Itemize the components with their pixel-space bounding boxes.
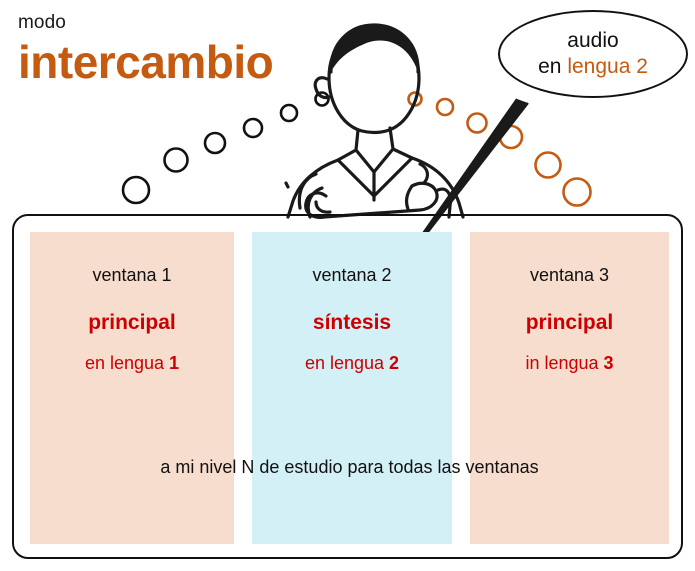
speech-bubble-prefix: en [538, 55, 567, 78]
window-language-number-3: 3 [604, 353, 614, 373]
window-column-2[interactable]: ventana 2 síntesis en lengua 2 [252, 232, 452, 544]
window-title-2: ventana 2 [252, 264, 452, 286]
person-icon [286, 25, 463, 217]
header-block: modo intercambio [18, 12, 273, 88]
window-language-3: in lengua 3 [470, 352, 669, 374]
window-column-3[interactable]: ventana 3 principal in lengua 3 [470, 232, 669, 544]
window-role-2: síntesis [252, 310, 452, 336]
window-language-prefix-2: en lengua [305, 353, 389, 373]
window-language-prefix-1: en lengua [85, 353, 169, 373]
window-role-1: principal [30, 310, 234, 336]
window-language-1: en lengua 1 [30, 352, 234, 374]
mode-label: modo [18, 12, 273, 34]
window-language-number-1: 1 [169, 353, 179, 373]
window-title-1: ventana 1 [30, 264, 234, 286]
windows-panel: ventana 1 principal en lengua 1 ventana … [12, 214, 683, 559]
window-role-3: principal [470, 310, 669, 336]
speech-bubble: audio en lengua 2 [498, 10, 688, 98]
page-title: intercambio [18, 36, 273, 88]
speech-bubble-line-2: en lengua 2 [538, 54, 648, 80]
window-language-prefix-3: in lengua [525, 353, 603, 373]
speech-bubble-line-1: audio [567, 28, 618, 54]
window-language-number-2: 2 [389, 353, 399, 373]
black-bubbles-icon [123, 93, 329, 204]
window-language-2: en lengua 2 [252, 352, 452, 374]
window-title-3: ventana 3 [470, 264, 669, 286]
window-column-1[interactable]: ventana 1 principal en lengua 1 [30, 232, 234, 544]
speech-bubble-highlight: lengua 2 [567, 55, 648, 78]
panel-footnote: a mi nivel N de estudio para todas las v… [14, 456, 685, 478]
orange-bubbles-icon [409, 93, 591, 206]
